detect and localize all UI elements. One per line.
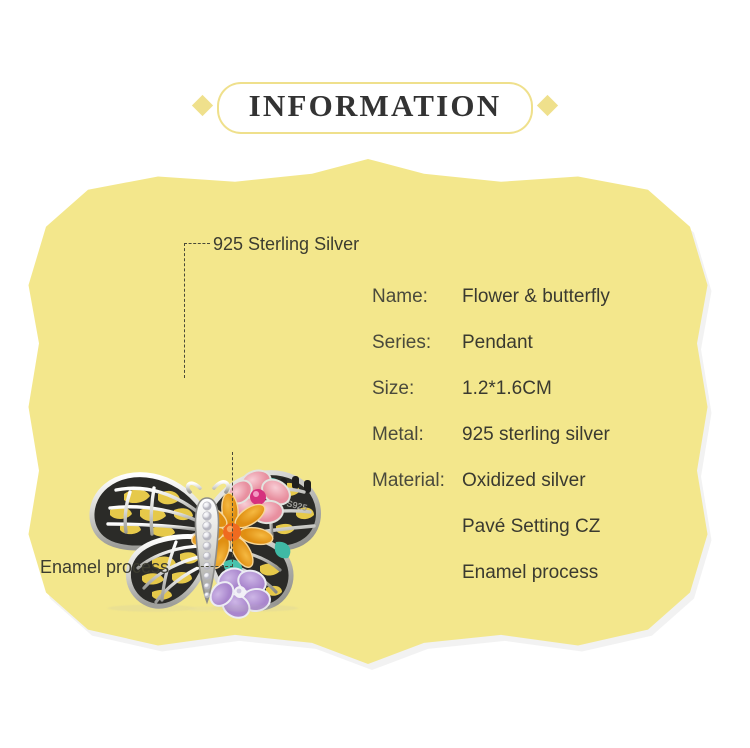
- spec-row-material: Material: Oxidized silver: [372, 470, 662, 516]
- spec-label: Metal:: [372, 424, 462, 446]
- spec-label: Series:: [372, 332, 462, 354]
- spec-row-material-3: Enamel process: [372, 562, 662, 608]
- antenna-left: [188, 483, 200, 492]
- spec-value: Pendant: [462, 332, 533, 354]
- annotation-leader-enamel-vertical: [232, 452, 233, 567]
- spec-row-name: Name: Flower & butterfly: [372, 286, 662, 332]
- spec-row-size: Size: 1.2*1.6CM: [372, 378, 662, 424]
- spec-row-material-2: Pavé Setting CZ: [372, 516, 662, 562]
- spec-label: Size:: [372, 378, 462, 400]
- annotation-label-silver: 925 Sterling Silver: [213, 234, 359, 255]
- spec-row-series: Series: Pendant: [372, 332, 662, 378]
- annotation-leader-silver-horizontal: [184, 243, 210, 244]
- spec-value: Flower & butterfly: [462, 286, 610, 308]
- spec-value: Oxidized silver: [462, 470, 586, 492]
- annotation-label-enamel: Enamel process: [40, 557, 169, 578]
- spec-row-metal: Metal: 925 sterling silver: [372, 424, 662, 470]
- spec-label: Material:: [372, 470, 462, 492]
- product-image-butterfly-charm: S925: [80, 442, 334, 642]
- annotation-leader-silver-vertical: [184, 243, 185, 378]
- product-spec-list: Name: Flower & butterfly Series: Pendant…: [372, 286, 662, 608]
- spec-value: 925 sterling silver: [462, 424, 610, 446]
- spec-value: 1.2*1.6CM: [462, 378, 552, 400]
- spec-value: Enamel process: [462, 562, 598, 584]
- spec-label: Name:: [372, 286, 462, 308]
- annotation-leader-enamel-horizontal: [196, 566, 233, 567]
- page-title: INFORMATION: [195, 78, 555, 134]
- header: INFORMATION: [0, 78, 750, 134]
- spec-value: Pavé Setting CZ: [462, 516, 600, 538]
- header-ornament-frame: INFORMATION: [195, 78, 555, 134]
